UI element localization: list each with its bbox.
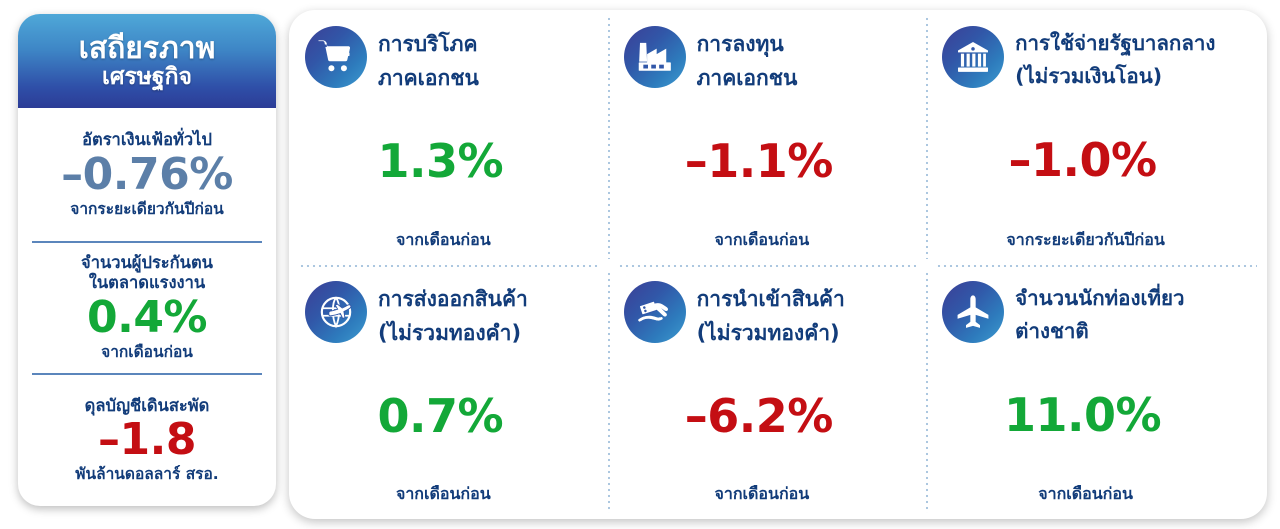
sidebar-metric-label-line1: จำนวนผู้ประกันตน [81,253,213,274]
sidebar-metric-value: –1.8 [98,417,196,464]
sidebar-metrics-list: อัตราเงินเฟ้อทั่วไป –0.76% จากระยะเดียวก… [18,108,276,506]
sidebar-metric-note: จากเดือนก่อน [101,343,193,362]
sidebar-metric-label-line2: ในตลาดแรงงาน [89,273,205,294]
sidebar-metric-insured-persons: จำนวนผู้ประกันตน ในตลาดแรงงาน 0.4% จากเด… [30,241,264,374]
card-title-line2: (ไม่รวมทองคำ) [697,316,845,350]
card-title-line2: ต่างชาติ [1015,315,1184,348]
card-title: การลงทุน ภาคเอกชน [697,26,798,95]
card-value: –6.2% [624,393,913,439]
shopping-cart-icon [305,26,367,88]
sidebar-metric-inflation: อัตราเงินเฟ้อทั่วไป –0.76% จากระยะเดียวก… [30,108,264,241]
sidebar-metric-value: –0.76% [61,152,233,199]
card-title-line1: จำนวนนักท่องเที่ยว [1015,282,1184,315]
economic-stability-sidebar: เสถียรภาพ เศรษฐกิจ อัตราเงินเฟ้อทั่วไป –… [18,14,276,506]
card-title-line1: การใช้จ่ายรัฐบาลกลาง [1015,27,1215,60]
card-value: –1.0% [942,137,1253,183]
card-title-line2: ภาคเอกชน [697,61,798,95]
sidebar-metric-value: 0.4% [87,295,207,342]
card-header: จำนวนนักท่องเที่ยว ต่างชาติ [942,281,1253,348]
card-header: การบริโภค ภาคเอกชน [305,26,594,95]
sidebar-metric-note: พันล้านดอลลาร์ สรอ. [75,465,218,484]
card-value: 1.3% [305,138,594,184]
card-value: 0.7% [305,393,594,439]
factory-icon [624,26,686,88]
sidebar-title-line1: เสถียรภาพ [79,33,216,65]
hand-money-icon [624,281,686,343]
card-header: การใช้จ่ายรัฐบาลกลาง (ไม่รวมเงินโอน) [942,26,1253,93]
card-header: การลงทุน ภาคเอกชน [624,26,913,95]
card-header: การนำเข้าสินค้า (ไม่รวมทองคำ) [624,281,913,350]
card-title: การบริโภค ภาคเอกชน [378,26,479,95]
sidebar-metric-label: อัตราเงินเฟ้อทั่วไป [82,130,212,151]
card-title: การส่งออกสินค้า (ไม่รวมทองคำ) [378,281,528,350]
card-value: 11.0% [942,392,1253,438]
card-note: จากเดือนก่อน [624,482,913,507]
card-note: จากเดือนก่อน [624,228,913,253]
card-note: จากระยะเดียวกันปีก่อน [942,228,1253,253]
card-title: จำนวนนักท่องเที่ยว ต่างชาติ [1015,281,1184,348]
card-title-line1: การส่งออกสินค้า [378,282,528,316]
sidebar-metric-label: ดุลบัญชีเดินสะพัด [85,396,210,417]
card-title-line1: การบริโภค [378,27,479,61]
indicators-panel: การบริโภค ภาคเอกชน 1.3% จากเดือนก่อน [289,10,1267,519]
infographic-root: เสถียรภาพ เศรษฐกิจ อัตราเงินเฟ้อทั่วไป –… [0,0,1280,529]
indicator-card-grid: การบริโภค ภาคเอกชน 1.3% จากเดือนก่อน [289,10,1267,519]
indicator-card-imports: การนำเข้าสินค้า (ไม่รวมทองคำ) –6.2% จากเ… [608,265,927,520]
indicator-card-exports: การส่งออกสินค้า (ไม่รวมทองคำ) 0.7% จากเด… [289,265,608,520]
card-title-line2: (ไม่รวมเงินโอน) [1015,60,1215,93]
globe-airplane-icon [305,281,367,343]
card-title-line1: การลงทุน [697,27,798,61]
card-note: จากเดือนก่อน [305,482,594,507]
sidebar-header: เสถียรภาพ เศรษฐกิจ [18,14,276,108]
card-title-line1: การนำเข้าสินค้า [697,282,845,316]
card-note: จากเดือนก่อน [305,228,594,253]
indicator-card-government-spending: การใช้จ่ายรัฐบาลกลาง (ไม่รวมเงินโอน) –1.… [926,10,1267,265]
indicator-card-private-consumption: การบริโภค ภาคเอกชน 1.3% จากเดือนก่อน [289,10,608,265]
card-note: จากเดือนก่อน [942,482,1253,507]
airplane-icon [942,281,1004,343]
indicator-card-private-investment: การลงทุน ภาคเอกชน –1.1% จากเดือนก่อน [608,10,927,265]
bank-building-icon [942,26,1004,88]
card-title-line2: ภาคเอกชน [378,61,479,95]
indicator-card-foreign-tourists: จำนวนนักท่องเที่ยว ต่างชาติ 11.0% จากเดื… [926,265,1267,520]
card-value: –1.1% [624,138,913,184]
card-title-line2: (ไม่รวมทองคำ) [378,316,528,350]
sidebar-metric-current-account: ดุลบัญชีเดินสะพัด –1.8 พันล้านดอลลาร์ สร… [30,373,264,506]
sidebar-metric-note: จากระยะเดียวกันปีก่อน [70,200,224,219]
card-title: การใช้จ่ายรัฐบาลกลาง (ไม่รวมเงินโอน) [1015,26,1215,93]
sidebar-title-line2: เศรษฐกิจ [102,65,192,91]
card-title: การนำเข้าสินค้า (ไม่รวมทองคำ) [697,281,845,350]
card-header: การส่งออกสินค้า (ไม่รวมทองคำ) [305,281,594,350]
